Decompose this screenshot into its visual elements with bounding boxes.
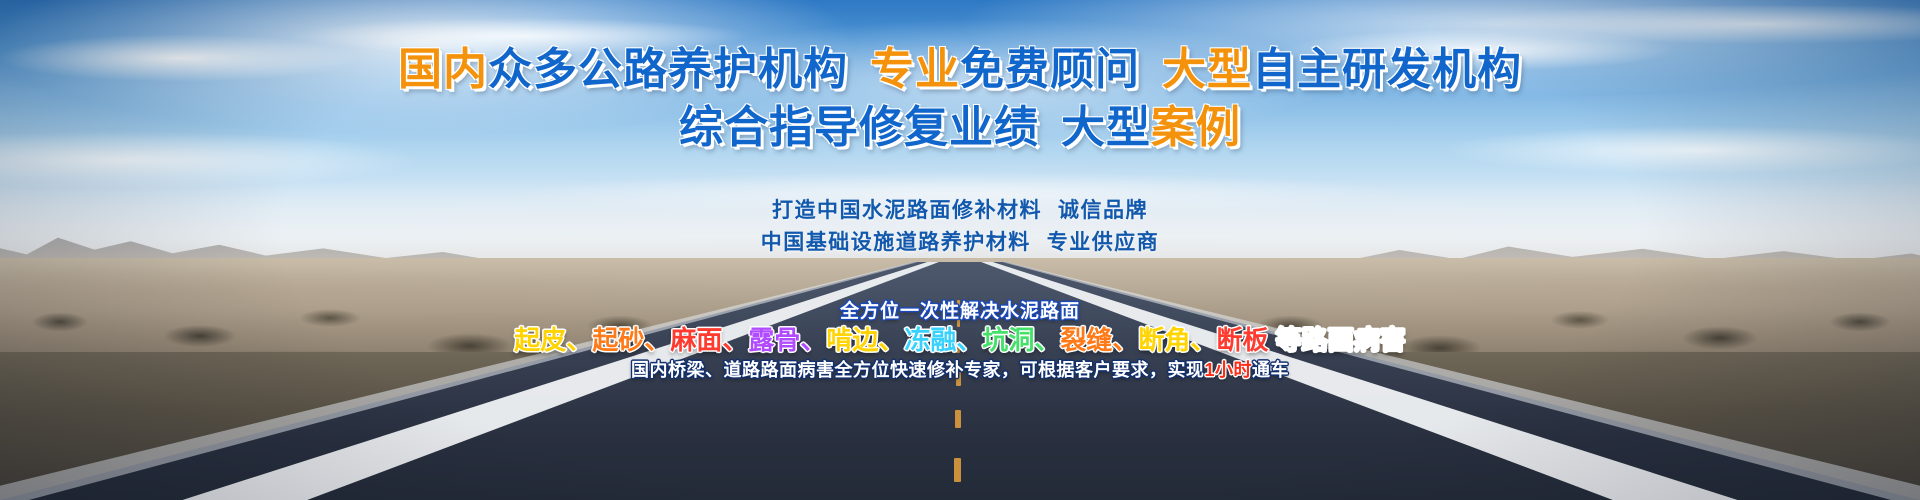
defect-item-7: 裂缝、 bbox=[1060, 325, 1138, 355]
headline-line-1: 国内众多公路养护机构专业免费顾问大型自主研发机构 bbox=[0, 44, 1920, 96]
sub2-text-a: 中国基础设施道路养护材料 bbox=[761, 231, 1031, 254]
defect-item-4: 啃边、 bbox=[826, 325, 904, 355]
subheadline-line-1: 打造中国水泥路面修补材料诚信品牌 bbox=[0, 194, 1920, 224]
sub1-text-b: 诚信品牌 bbox=[1058, 199, 1148, 222]
banner-text-layer: 国内众多公路养护机构专业免费顾问大型自主研发机构 综合指导修复业绩大型案例 打造… bbox=[0, 0, 1920, 500]
defect-item-3: 露骨、 bbox=[748, 325, 826, 355]
subheadline-line-2: 中国基础设施道路养护材料专业供应商 bbox=[0, 226, 1920, 256]
headline1-segment-professional: 专业 bbox=[870, 45, 960, 94]
guarantee-tail-text: 通车 bbox=[1252, 360, 1289, 380]
headline1-segment-rnd: 自主研发机构 bbox=[1252, 45, 1522, 94]
sub2-text-b: 专业供应商 bbox=[1047, 231, 1160, 254]
headline2-segment-large: 大型 bbox=[1061, 103, 1151, 152]
defect-item-5: 冻融、 bbox=[904, 325, 982, 355]
defect-item-10: 等路面病害 bbox=[1268, 325, 1405, 355]
promo-banner: 国内众多公路养护机构专业免费顾问大型自主研发机构 综合指导修复业绩大型案例 打造… bbox=[0, 0, 1920, 500]
defect-type-list: 起皮、起砂、麻面、露骨、啃边、冻融、坑洞、裂缝、断角、断板 等路面病害 bbox=[0, 320, 1920, 357]
headline1-segment-free-consult: 免费顾问 bbox=[960, 45, 1140, 94]
headline1-segment-agencies: 众多公路养护机构 bbox=[488, 45, 848, 94]
defect-item-2: 麻面、 bbox=[670, 325, 748, 355]
headline1-segment-domestic: 国内 bbox=[398, 45, 488, 94]
sub1-text-a: 打造中国水泥路面修补材料 bbox=[772, 199, 1042, 222]
defect-item-1: 起砂、 bbox=[592, 325, 670, 355]
defect-item-6: 坑洞、 bbox=[982, 325, 1060, 355]
guarantee-highlight-duration: 1小时 bbox=[1204, 360, 1252, 380]
headline2-segment-cases: 案例 bbox=[1151, 103, 1241, 152]
guarantee-head-text: 国内桥梁、道路路面病害全方位快速修补专家，可根据客户要求，实现 bbox=[631, 360, 1205, 380]
headline2-segment-guidance: 综合指导修复业绩 bbox=[679, 103, 1039, 152]
defect-item-8: 断角、 bbox=[1138, 325, 1216, 355]
defect-item-9: 断板 bbox=[1216, 325, 1268, 355]
bottom-tagline: 全方位一次性解决水泥路面 bbox=[0, 296, 1920, 323]
defect-item-0: 起皮、 bbox=[514, 325, 592, 355]
headline1-segment-large: 大型 bbox=[1162, 45, 1252, 94]
bottom-guarantee-line: 国内桥梁、道路路面病害全方位快速修补专家，可根据客户要求，实现1小时通车 bbox=[0, 356, 1920, 382]
headline-line-2: 综合指导修复业绩大型案例 bbox=[0, 102, 1920, 154]
